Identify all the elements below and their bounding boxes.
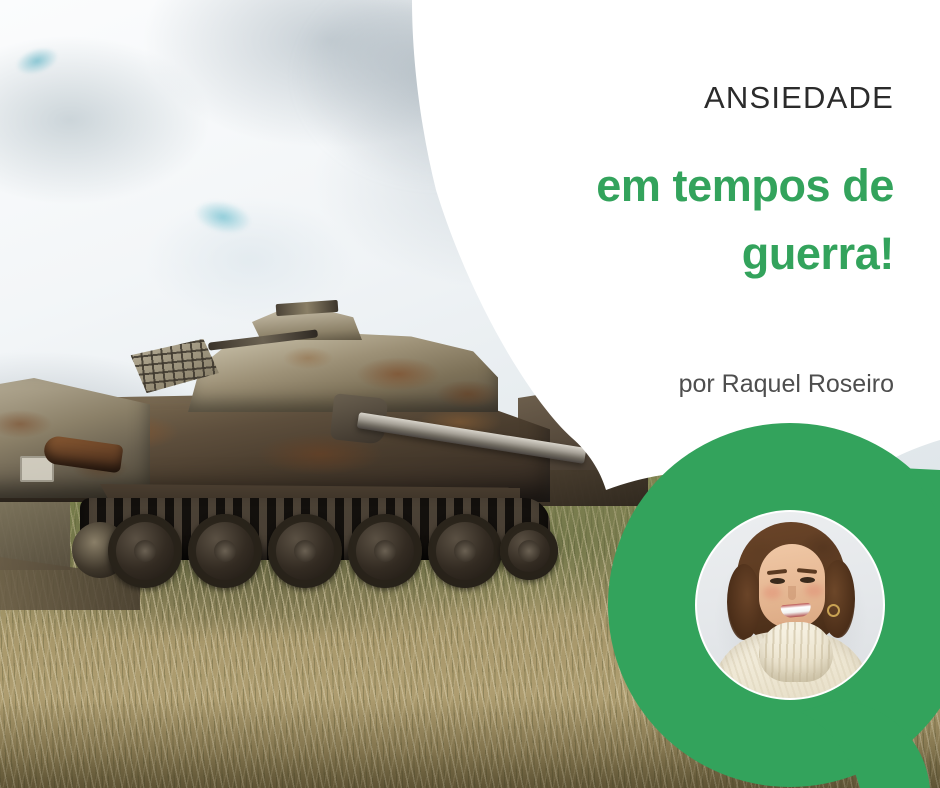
eyebrow-heading: ANSIEDADE xyxy=(704,80,894,116)
tank-road-wheel xyxy=(188,514,262,588)
title-line-2: guerra! xyxy=(464,220,894,288)
tank-road-wheel xyxy=(428,514,502,588)
tank-illustration xyxy=(0,300,680,620)
tank-road-wheel xyxy=(348,514,422,588)
avatar-nose xyxy=(788,586,796,600)
title-line-1: em tempos de xyxy=(464,152,894,220)
avatar-cheek xyxy=(763,586,781,599)
avatar-earring xyxy=(827,604,840,617)
tank-road-wheel xyxy=(108,514,182,588)
avatar-eye xyxy=(800,577,815,583)
tank-road-wheel xyxy=(268,514,342,588)
avatar-eye xyxy=(770,578,785,584)
avatar-cheek xyxy=(805,584,823,597)
ground-vignette xyxy=(0,700,940,788)
tank-road-wheel xyxy=(500,522,558,580)
author-avatar xyxy=(697,512,883,698)
avatar-hair-curl xyxy=(821,560,855,638)
main-title: em tempos de guerra! xyxy=(464,152,894,289)
post-canvas: ANSIEDADE em tempos de guerra! por Raque… xyxy=(0,0,940,788)
avatar-turtleneck-collar xyxy=(759,622,833,682)
avatar-hair-curl xyxy=(727,564,761,640)
author-byline: por Raquel Roseiro xyxy=(679,370,894,399)
